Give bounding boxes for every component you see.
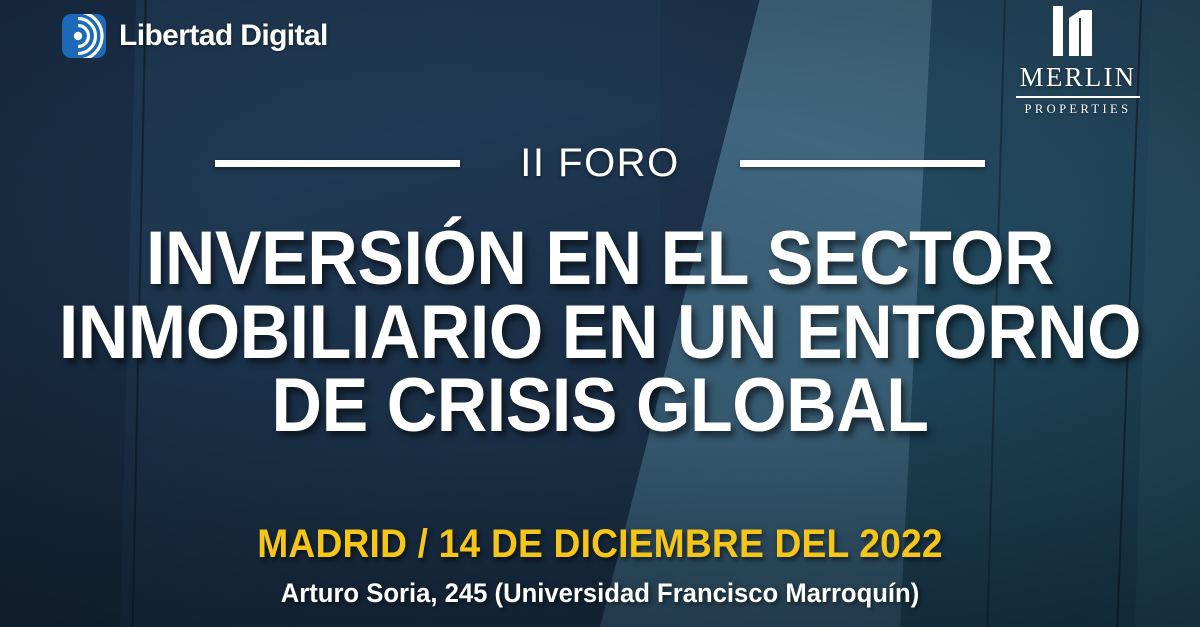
- broadcast-signal-icon: [62, 14, 106, 58]
- eyebrow-rule-left: [215, 160, 460, 167]
- event-headline: INVERSIÓN EN EL SECTOR INMOBILIARIO EN U…: [48, 222, 1152, 443]
- eyebrow-label: II FORO: [520, 143, 679, 183]
- event-venue: Arturo Soria, 245 (Universidad Francisco…: [30, 580, 1170, 607]
- libertad-digital-wordmark: Libertad Digital: [119, 21, 328, 51]
- eyebrow-rule-right: [740, 160, 985, 167]
- banner-content: Libertad Digital MERLIN PROPERTIES II FO…: [0, 0, 1200, 627]
- merlin-name: MERLIN: [1014, 64, 1142, 91]
- merlin-subtitle: PROPERTIES: [1014, 103, 1142, 116]
- headline-line-2: INMOBILIARIO EN UN ENTORNO: [48, 296, 1152, 370]
- towers-building-icon: [1014, 6, 1142, 56]
- headline-line-1: INVERSIÓN EN EL SECTOR: [48, 222, 1152, 296]
- libertad-digital-logo: Libertad Digital: [62, 14, 328, 58]
- headline-line-3: DE CRISIS GLOBAL: [48, 369, 1152, 443]
- merlin-properties-logo: MERLIN PROPERTIES: [1014, 6, 1142, 116]
- merlin-divider: [1016, 96, 1140, 98]
- eyebrow: II FORO: [0, 143, 1200, 183]
- event-date: MADRID / 14 DE DICIEMBRE DEL 2022: [42, 524, 1158, 564]
- event-promo-banner: Libertad Digital MERLIN PROPERTIES II FO…: [0, 0, 1200, 627]
